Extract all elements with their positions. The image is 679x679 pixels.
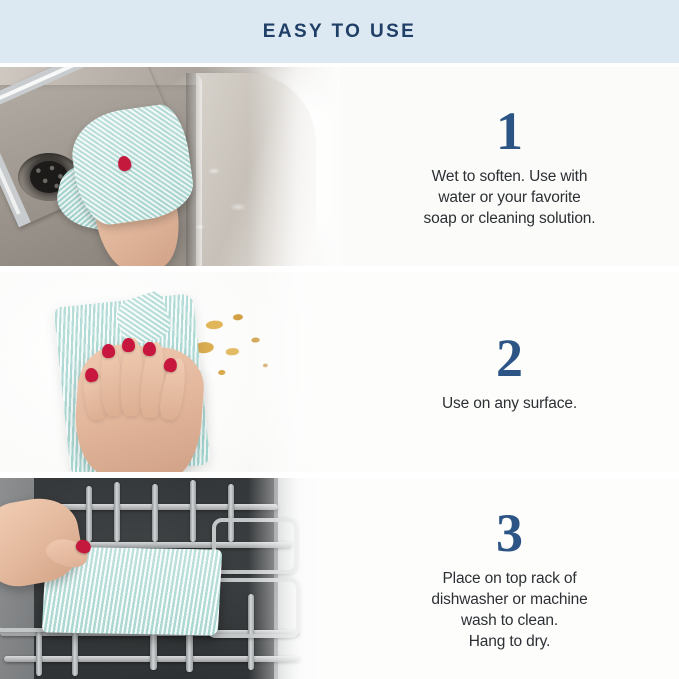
rack-basket <box>212 518 298 574</box>
step-3-line-4: Hang to dry. <box>431 631 587 652</box>
step-3-text-column: 3 Place on top rack of dishwasher or mac… <box>340 478 679 679</box>
rack-tine <box>72 630 78 676</box>
step-1-line-3: soap or cleaning solution. <box>424 208 596 229</box>
step-2-text-column: 2 Use on any surface. <box>340 272 679 472</box>
header-banner: EASY TO USE <box>0 0 679 63</box>
easy-to-use-infographic: EASY TO USE 1 We <box>0 0 679 679</box>
step-row-3: 3 Place on top rack of dishwasher or mac… <box>0 478 679 679</box>
page-title: EASY TO USE <box>263 22 416 41</box>
step-2-description: Use on any surface. <box>442 393 577 414</box>
step-1-text-column: 1 Wet to soften. Use with water or your … <box>340 67 679 266</box>
step-1-photo-sink <box>0 67 340 266</box>
fingernail <box>142 341 156 356</box>
step-1-line-1: Wet to soften. Use with <box>424 166 596 187</box>
step-1-line-2: water or your favorite <box>424 187 596 208</box>
rack-tine <box>114 482 120 542</box>
step-2-number: 2 <box>496 331 523 385</box>
step-1-number: 1 <box>496 104 523 158</box>
step-3-photo-dishwasher <box>0 478 340 679</box>
step-3-line-2: dishwasher or machine <box>431 589 587 610</box>
step-2-photo-counter <box>0 272 340 472</box>
counter-scene <box>0 272 340 472</box>
step-row-1: 1 Wet to soften. Use with water or your … <box>0 67 679 266</box>
step-3-line-1: Place on top rack of <box>431 568 587 589</box>
step-3-line-3: wash to clean. <box>431 610 587 631</box>
rack-tine <box>152 484 158 542</box>
step-3-number: 3 <box>496 506 523 560</box>
fingernail <box>122 338 135 352</box>
sink-scene <box>0 67 340 266</box>
step-2-line-1: Use on any surface. <box>442 393 577 414</box>
rack-tine <box>190 480 196 542</box>
step-1-description: Wet to soften. Use with water or your fa… <box>424 166 596 229</box>
rack-tine <box>36 628 42 676</box>
rack-tine <box>86 486 92 542</box>
step-3-description: Place on top rack of dishwasher or machi… <box>431 568 587 652</box>
dishwasher-scene <box>0 478 340 679</box>
step-row-2: 2 Use on any surface. <box>0 272 679 472</box>
